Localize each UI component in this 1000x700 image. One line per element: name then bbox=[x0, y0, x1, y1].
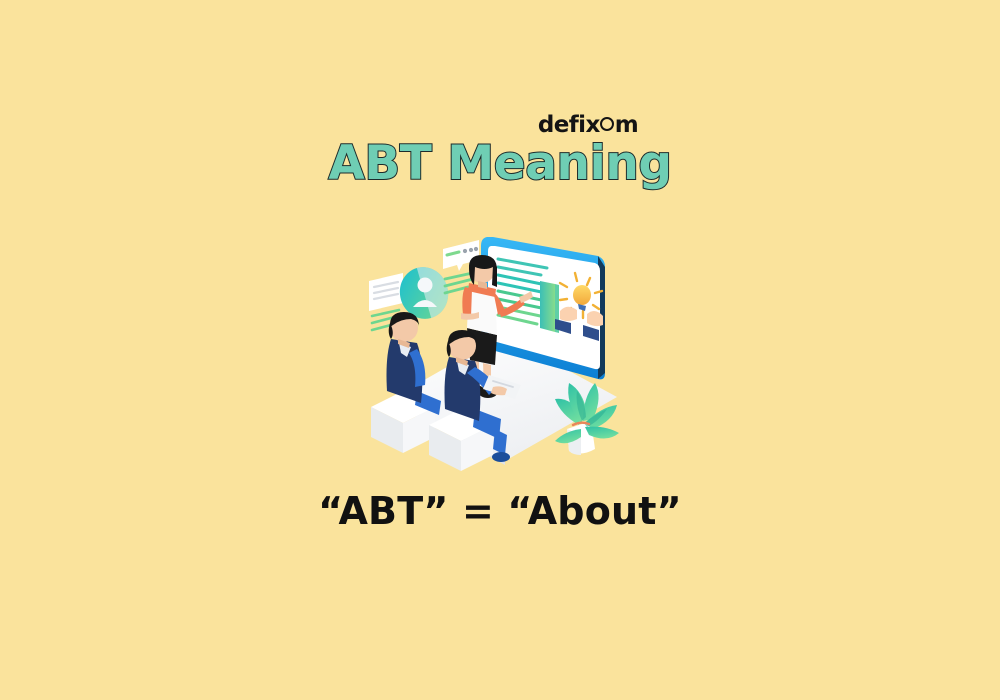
poster-canvas: defixm ABT Meaning bbox=[0, 0, 1000, 700]
illustration bbox=[355, 215, 645, 480]
brand-logo: defixm bbox=[0, 114, 1000, 137]
brand-wordmark: defixm bbox=[538, 114, 638, 137]
brand-text-after: m bbox=[615, 114, 638, 137]
illustration-svg bbox=[355, 215, 645, 480]
page-title: ABT Meaning bbox=[0, 138, 1000, 190]
definition-caption: “ABT” = “About” bbox=[0, 490, 1000, 534]
brand-text-before: defix bbox=[538, 114, 600, 137]
brand-circle-o-icon bbox=[600, 117, 614, 131]
